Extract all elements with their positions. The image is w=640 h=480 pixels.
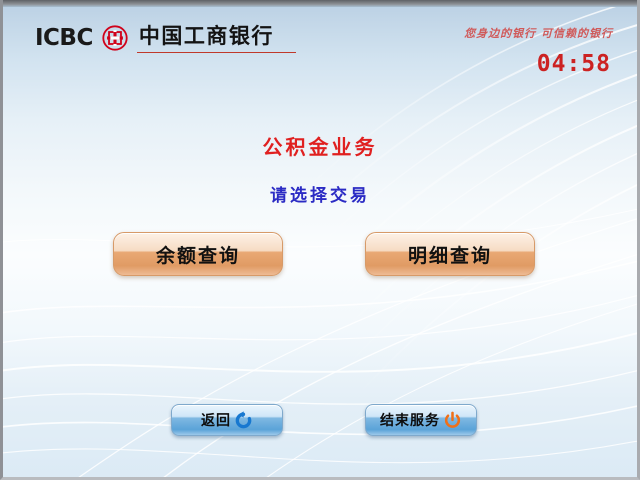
- detail-inquiry-label: 明细查询: [408, 241, 492, 268]
- refresh-arrow-icon: [234, 411, 253, 430]
- end-service-button[interactable]: 结束服务: [365, 404, 477, 436]
- icbc-emblem-icon: [102, 25, 128, 51]
- page-subtitle: 请选择交易: [3, 181, 637, 206]
- icbc-wordmark: ICBC: [35, 27, 93, 50]
- clock-display: 04:58: [537, 51, 611, 77]
- bank-name-wrapper: 中国工商银行: [139, 26, 274, 50]
- atm-screen: ICBC 中国工商银行 您身边的银行 可信赖的银行 04:58 公积金业务 请选…: [0, 0, 640, 480]
- detail-inquiry-button[interactable]: 明细查询: [365, 232, 535, 276]
- end-service-label: 结束服务: [380, 410, 440, 430]
- header: ICBC 中国工商银行 您身边的银行 可信赖的银行 04:58: [3, 7, 637, 69]
- bank-name: 中国工商银行: [139, 24, 274, 48]
- top-bezel-strip: [3, 0, 637, 7]
- bank-tagline: 您身边的银行 可信赖的银行: [464, 25, 613, 41]
- back-button-label: 返回: [201, 410, 231, 430]
- bank-name-underline: [137, 52, 296, 53]
- page-title: 公积金业务: [3, 131, 637, 160]
- back-button[interactable]: 返回: [171, 404, 283, 436]
- bank-logo: ICBC 中国工商银行: [35, 25, 274, 51]
- power-icon: [443, 411, 462, 430]
- balance-inquiry-button[interactable]: 余额查询: [113, 232, 283, 276]
- balance-inquiry-label: 余额查询: [156, 241, 240, 268]
